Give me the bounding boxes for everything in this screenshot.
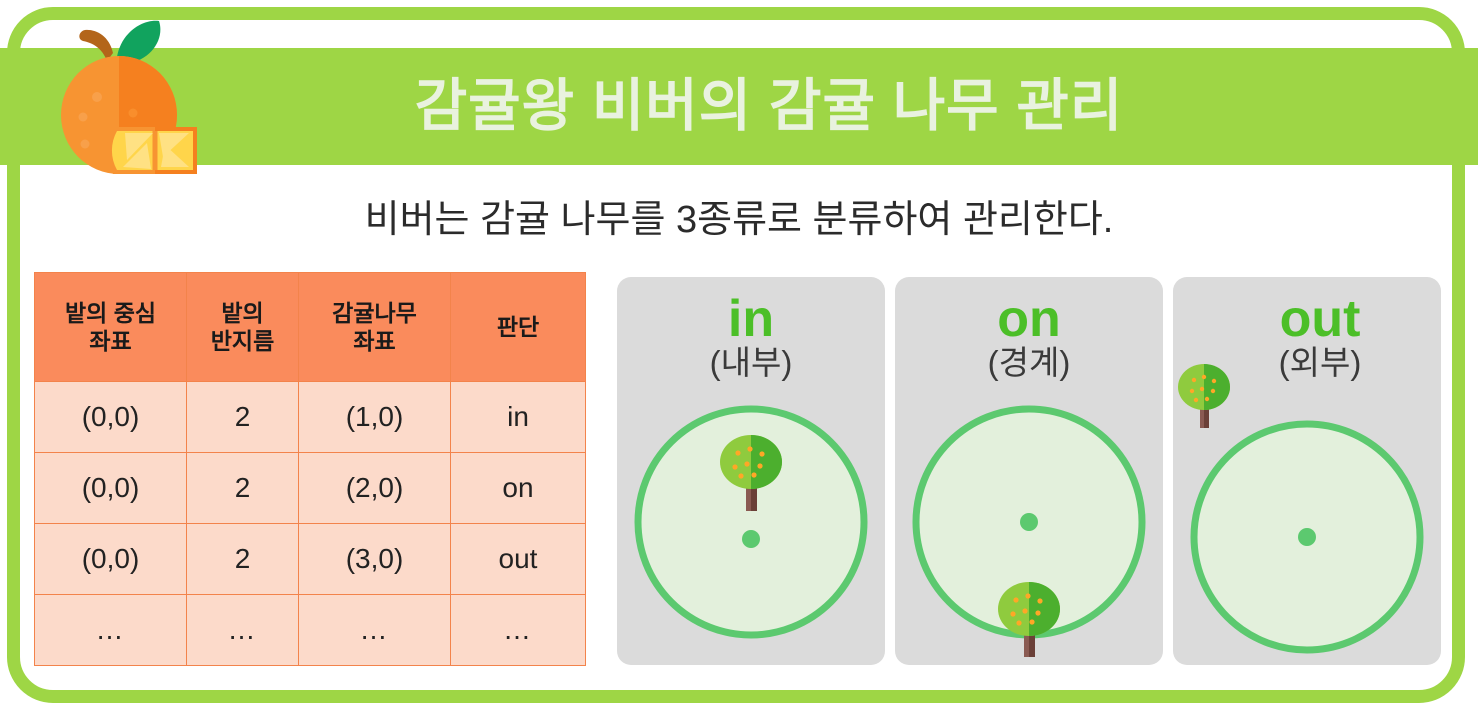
cell-center: (0,0): [35, 453, 187, 524]
judgement-table-wrapper: 밭의 중심 좌표 밭의 반지름 감귤나무 좌표 판단: [34, 272, 585, 666]
cell-tree-coord: (2,0): [299, 453, 451, 524]
cell-verdict: in: [451, 382, 586, 453]
table-row: … … … …: [35, 595, 586, 666]
column-header-verdict: 판단: [451, 273, 586, 382]
cell-radius: 2: [187, 524, 299, 595]
orange-fruit-icon: [47, 17, 222, 180]
poster-root: 감귤왕 비버의 감귤 나무 관리 비버는 감귤 나무를 3종류로 분류하여 관리…: [0, 0, 1478, 714]
column-header-center: 밭의 중심 좌표: [35, 273, 187, 382]
panel-in-diagram: [617, 277, 885, 665]
panel-in: in (내부): [617, 277, 885, 665]
circle-center-dot-in: [742, 530, 760, 548]
column-header-tree-coord: 감귤나무 좌표: [299, 273, 451, 382]
panel-on-diagram: [895, 277, 1163, 665]
subtitle-text: 비버는 감귤 나무를 3종류로 분류하여 관리한다.: [0, 188, 1478, 243]
concept-panels: in (내부) on: [617, 277, 1457, 665]
column-header-radius: 밭의 반지름: [187, 273, 299, 382]
table-row: (0,0) 2 (3,0) out: [35, 524, 586, 595]
header-line-2: 반지름: [211, 328, 274, 354]
header-line-1: 판단: [497, 314, 539, 340]
circle-center-dot-on: [1020, 513, 1038, 531]
cell-radius: 2: [187, 382, 299, 453]
cell-center: …: [35, 595, 187, 666]
cell-tree-coord: …: [299, 595, 451, 666]
cell-radius: …: [187, 595, 299, 666]
circle-center-dot-out: [1298, 528, 1316, 546]
cell-verdict: …: [451, 595, 586, 666]
cell-center: (0,0): [35, 524, 187, 595]
header-line-1: 밭의: [221, 300, 263, 326]
judgement-table: 밭의 중심 좌표 밭의 반지름 감귤나무 좌표 판단: [34, 272, 586, 666]
cell-center: (0,0): [35, 382, 187, 453]
page-title: 감귤왕 비버의 감귤 나무 관리: [415, 78, 1124, 135]
cell-tree-coord: (3,0): [299, 524, 451, 595]
cell-tree-coord: (1,0): [299, 382, 451, 453]
panel-out-diagram: [1173, 277, 1441, 665]
cell-radius: 2: [187, 453, 299, 524]
header-line-2: 좌표: [353, 328, 395, 354]
header-line-2: 좌표: [89, 328, 131, 354]
citrus-tree-icon-out: [1178, 364, 1230, 428]
panel-on: on (경계): [895, 277, 1163, 665]
panel-out: out (외부): [1173, 277, 1441, 665]
table-header-row: 밭의 중심 좌표 밭의 반지름 감귤나무 좌표 판단: [35, 273, 586, 382]
cell-verdict: out: [451, 524, 586, 595]
citrus-tree-icon-on: [998, 582, 1060, 657]
table-row: (0,0) 2 (2,0) on: [35, 453, 586, 524]
cell-verdict: on: [451, 453, 586, 524]
header-line-1: 밭의 중심: [65, 300, 156, 326]
table-row: (0,0) 2 (1,0) in: [35, 382, 586, 453]
header-line-1: 감귤나무: [332, 300, 417, 326]
